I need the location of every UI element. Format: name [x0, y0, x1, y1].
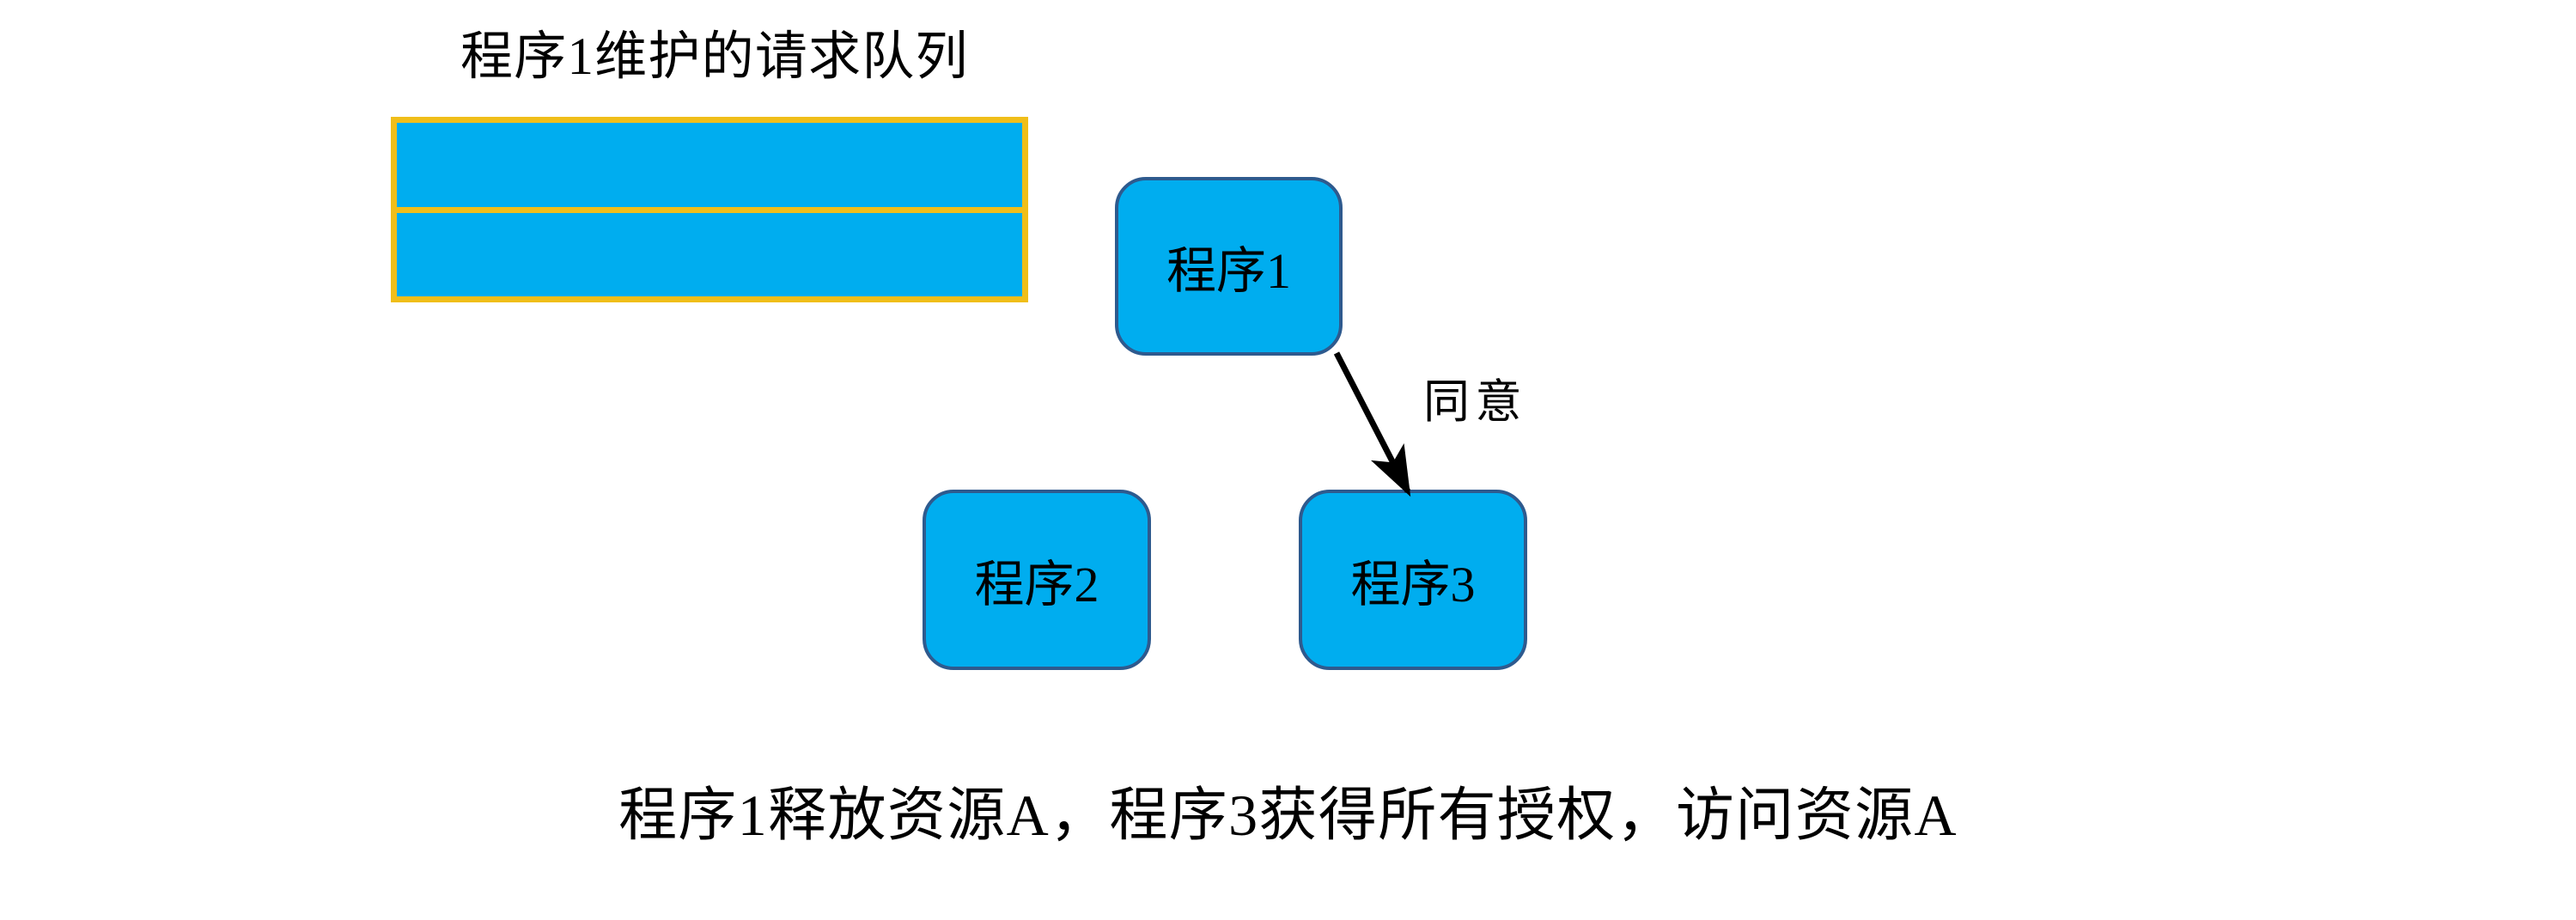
- diagram-canvas: 程序1维护的请求队列 程序1 程序2 程序3 同意 程序1释放资源A，程序3获得…: [0, 0, 2576, 920]
- node-proc2: 程序2: [923, 490, 1151, 670]
- node-proc3: 程序3: [1299, 490, 1527, 670]
- diagram-caption: 程序1释放资源A，程序3获得所有授权，访问资源A: [0, 782, 2576, 849]
- request-queue-box: [391, 117, 1028, 302]
- queue-slot: [397, 123, 1022, 207]
- queue-slot: [397, 207, 1022, 297]
- edge-proc1-proc3-arrow: [1337, 353, 1408, 491]
- edge-proc1-proc3-label: 同意: [1423, 379, 1527, 425]
- node-proc1: 程序1: [1115, 177, 1343, 356]
- queue-title: 程序1维护的请求队列: [460, 31, 969, 83]
